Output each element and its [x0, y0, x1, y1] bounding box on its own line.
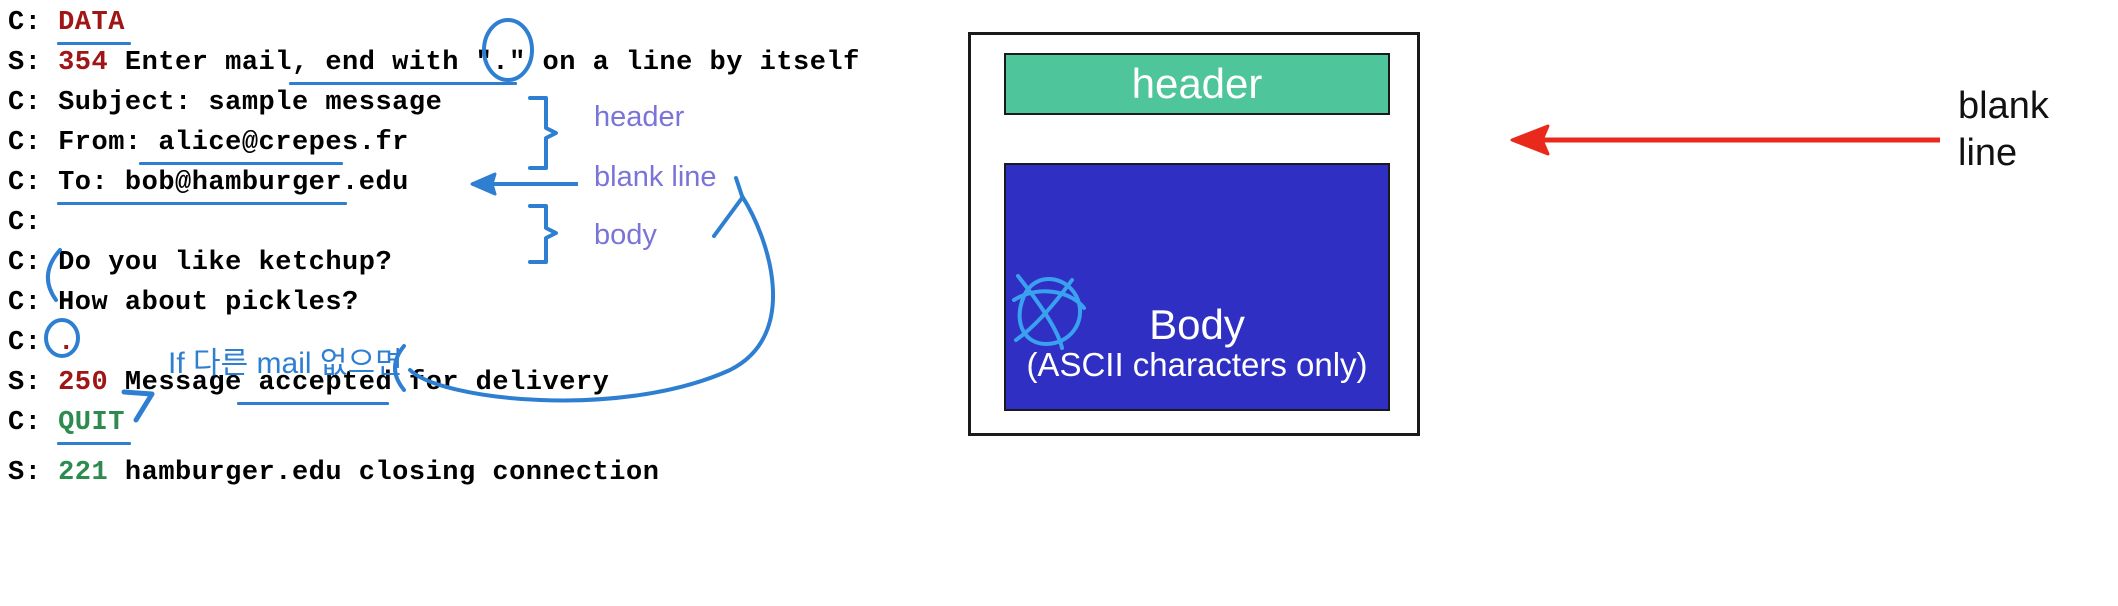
line-prefix: C: [8, 328, 58, 358]
underline-from-address [139, 162, 343, 165]
line-prefix: C: [8, 168, 58, 198]
line-prefix: C: [8, 88, 58, 118]
transcript-line-to: C: To: bob@hamburger.edu [8, 170, 409, 197]
status-code-250: 250 [58, 368, 108, 398]
transcript-line-s221: S: 221 hamburger.edu closing connection [8, 460, 659, 487]
underline-to-address [57, 202, 347, 205]
line-text: DATA [58, 8, 125, 38]
transcript-line-data: C: DATA [8, 10, 125, 37]
line-prefix: S: [8, 48, 58, 78]
diagram-body-box: Body (ASCII characters only) [1004, 163, 1390, 411]
underline-accepted [237, 402, 389, 405]
diagram-blank-line-label-1: blank [1958, 85, 2049, 129]
status-code-354: 354 [58, 48, 108, 78]
annotation-label-body: body [594, 219, 657, 252]
transcript-line-subject: C: Subject: sample message [8, 90, 442, 117]
line-text: Enter mail, end with "." on a line by it… [108, 48, 860, 78]
transcript-line-dot: C: . [8, 330, 75, 357]
line-text: Do you like ketchup? [58, 248, 392, 278]
handwritten-note: If 다른 mail 없으면 [168, 338, 403, 382]
underline-end-with-dot [289, 82, 517, 85]
annotation-label-blank-line: blank line [594, 161, 717, 194]
line-prefix: C: [8, 288, 58, 318]
transcript-line-quit: C: QUIT [8, 410, 125, 437]
diagram-body-sublabel: (ASCII characters only) [1026, 347, 1367, 383]
line-text: To: bob@hamburger.edu [58, 168, 409, 198]
diagram-body-label: Body [1149, 303, 1245, 347]
line-prefix: C: [8, 128, 58, 158]
smtp-transcript: C: DATA S: 354 Enter mail, end with "." … [8, 4, 938, 604]
transcript-line-from: C: From: alice@crepes.fr [8, 130, 409, 157]
line-prefix: C: [8, 408, 58, 438]
annotation-label-header: header [594, 101, 684, 134]
line-text: Subject: sample message [58, 88, 442, 118]
line-prefix: C: [8, 248, 58, 278]
line-text: . [58, 328, 75, 358]
red-arrow-head-icon [1512, 126, 1548, 154]
line-prefix: C: [8, 8, 58, 38]
transcript-line-ketchup: C: Do you like ketchup? [8, 250, 392, 277]
status-code-221: 221 [58, 458, 108, 488]
diagram-header-label: header [1132, 63, 1263, 105]
line-prefix: C: [8, 208, 58, 238]
line-text: How about pickles? [58, 288, 359, 318]
transcript-line-s354: S: 354 Enter mail, end with "." on a lin… [8, 50, 860, 77]
line-prefix: S: [8, 458, 58, 488]
line-text: QUIT [58, 408, 125, 438]
underline-data [57, 42, 131, 45]
message-structure-diagram: header Body (ASCII characters only) [968, 32, 1420, 436]
line-text: From: alice@crepes.fr [58, 128, 409, 158]
diagram-blank-line-label-2: line [1958, 132, 2017, 176]
diagram-header-box: header [1004, 53, 1390, 115]
line-prefix: S: [8, 368, 58, 398]
transcript-line-blank: C: [8, 210, 58, 237]
slide-canvas: C: DATA S: 354 Enter mail, end with "." … [0, 0, 2118, 606]
underline-quit [57, 442, 131, 445]
transcript-line-pickles: C: How about pickles? [8, 290, 359, 317]
line-text: hamburger.edu closing connection [108, 458, 659, 488]
